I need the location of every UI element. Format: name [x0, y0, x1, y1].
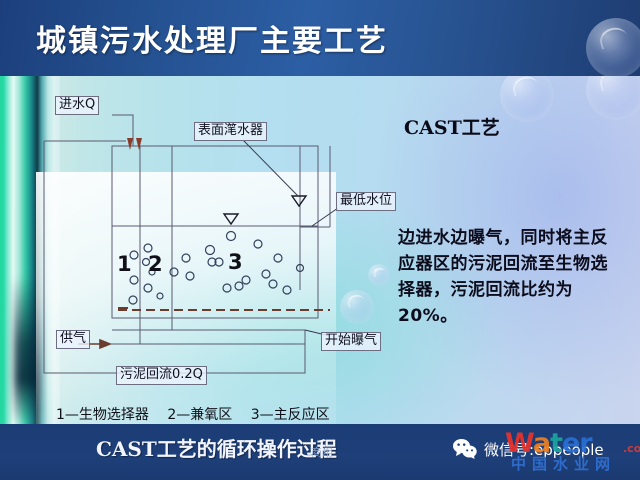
legend-item-2: 2—兼氧区	[167, 407, 232, 423]
wechat-id-label: 微信号:eppeople	[484, 439, 604, 460]
figure-caption: CAST工艺的循环操作过程	[96, 433, 337, 462]
wechat-credit: 微信号:eppeople	[452, 438, 604, 460]
label-lowest-water-level: 最低水位	[336, 192, 396, 211]
cast-process-description: 边进水边曝气，同时将主反应器区的污泥回流至生物选择器，污泥回流比约为20%。	[398, 225, 624, 329]
zone-legend: 1—生物选择器 2—兼氧区 3—主反应区	[56, 404, 344, 424]
zone-number-2: 2	[148, 252, 163, 276]
label-surface-decanter: 表面滗水器	[194, 122, 267, 141]
slide-root: 城镇污水处理厂主要工艺	[0, 0, 640, 480]
label-start-aeration: 开始曝气	[321, 332, 381, 351]
zone-number-3: 3	[228, 250, 243, 274]
wechat-icon	[452, 438, 478, 460]
legend-item-3: 3—主反应区	[251, 407, 330, 423]
aeration-diffuser-pipe	[118, 308, 330, 310]
zone-number-1: 1	[117, 252, 132, 276]
water-level-markers	[224, 196, 306, 224]
label-influent: 进水Q	[55, 96, 99, 115]
label-air-supply: 供气	[56, 330, 90, 349]
legend-item-1: 1—生物选择器	[56, 407, 149, 423]
footer-bar: CAST工艺的循环操作过程 商用 微信号:eppeople	[0, 424, 640, 480]
cast-process-heading: CAST工艺	[404, 113, 500, 140]
leader-lines	[243, 140, 338, 336]
footer-ghost-text: 商用	[311, 444, 333, 460]
label-sludge-return: 污泥回流0.2Q	[116, 366, 207, 385]
